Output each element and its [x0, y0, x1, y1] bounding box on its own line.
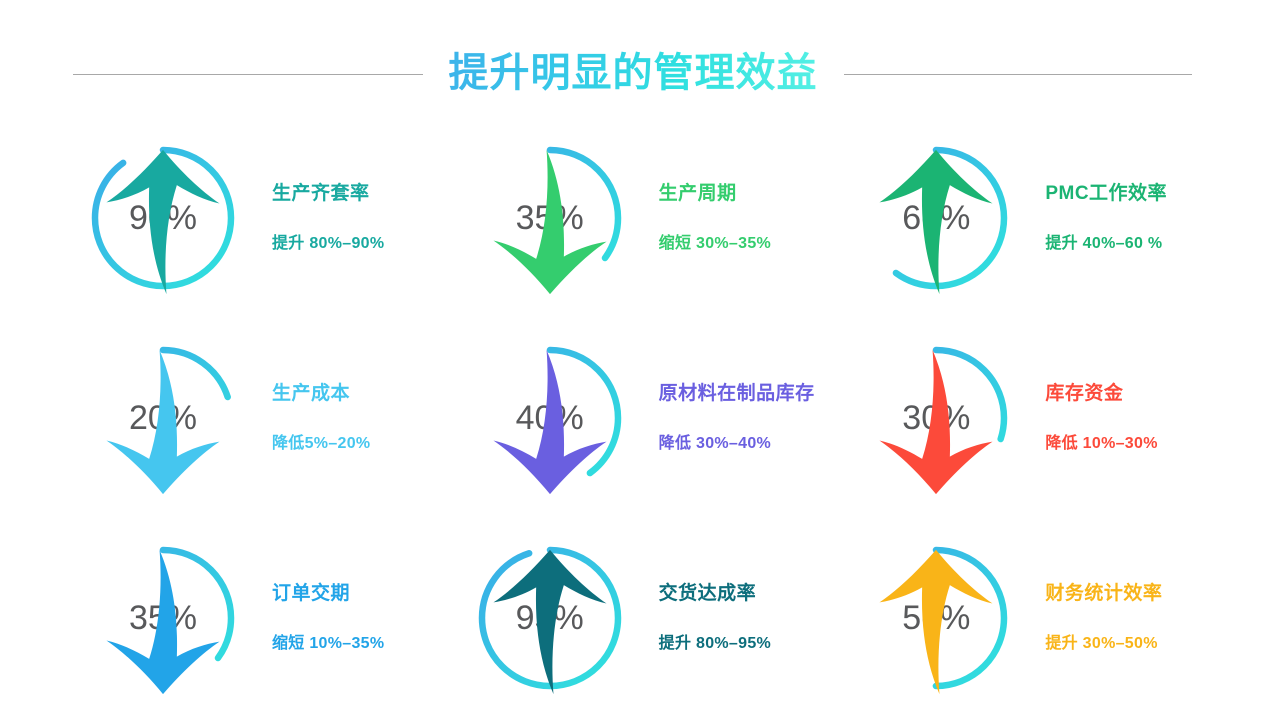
gauge-center: 35%: [475, 143, 625, 293]
gauge-center: 60%: [861, 143, 1011, 293]
arrow-up-icon: [861, 547, 1011, 697]
gauge-ring: 90%: [88, 143, 238, 293]
header-rule-left: [73, 74, 423, 75]
arrow-up-icon: [861, 147, 1011, 297]
gauge-ring: 20%: [88, 343, 238, 493]
metric-title: 原材料在制品库存: [659, 383, 815, 406]
gauge-ring: 30%: [861, 343, 1011, 493]
gauge-ring: 60%: [861, 143, 1011, 293]
metric-labels: 原材料在制品库存降低 30%–40%: [659, 383, 815, 453]
gauge-center: 95%: [475, 543, 625, 693]
metric-title: 订单交期: [272, 583, 384, 606]
gauge-ring: 35%: [88, 543, 238, 693]
metric-cell: 35%生产周期缩短 30%–35%: [447, 118, 834, 318]
metric-subtitle: 降低 10%–30%: [1045, 434, 1157, 453]
metric-cell: 60%PMC工作效率提升 40%–60 %: [833, 118, 1220, 318]
metric-cell: 35%订单交期缩短 10%–35%: [60, 518, 447, 718]
metric-title: 交货达成率: [659, 583, 771, 606]
metric-title: 库存资金: [1045, 383, 1157, 406]
metric-subtitle: 提升 40%–60 %: [1045, 234, 1167, 253]
slide-root: 提升明显的管理效益 90%生产齐套率提升 80%–90%35%生产周期缩短 30…: [0, 0, 1264, 710]
gauge-ring: 35%: [475, 143, 625, 293]
arrow-down-icon: [861, 347, 1011, 497]
metric-title: PMC工作效率: [1045, 183, 1167, 206]
metric-title: 财务统计效率: [1045, 583, 1162, 606]
metric-cell: 50%财务统计效率提升 30%–50%: [833, 518, 1220, 718]
metric-labels: 库存资金降低 10%–30%: [1045, 383, 1157, 453]
metric-subtitle: 降低5%–20%: [272, 434, 370, 453]
metric-title: 生产周期: [659, 183, 771, 206]
metric-labels: 生产周期缩短 30%–35%: [659, 183, 771, 253]
slide-header: 提升明显的管理效益: [0, 46, 1264, 102]
metric-subtitle: 提升 80%–95%: [659, 634, 771, 653]
metric-title: 生产成本: [272, 383, 370, 406]
metric-subtitle: 降低 30%–40%: [659, 434, 815, 453]
metric-cell: 20%生产成本降低5%–20%: [60, 318, 447, 518]
gauge-center: 40%: [475, 343, 625, 493]
arrow-down-icon: [88, 547, 238, 697]
metric-labels: 生产齐套率提升 80%–90%: [272, 183, 384, 253]
metric-subtitle: 提升 80%–90%: [272, 234, 384, 253]
metric-labels: 财务统计效率提升 30%–50%: [1045, 583, 1162, 653]
gauge-center: 35%: [88, 543, 238, 693]
metric-labels: 生产成本降低5%–20%: [272, 383, 370, 453]
arrow-down-icon: [475, 147, 625, 297]
arrow-down-icon: [88, 347, 238, 497]
header-rule-right: [844, 74, 1192, 75]
metric-cell: 40%原材料在制品库存降低 30%–40%: [447, 318, 834, 518]
metric-labels: 交货达成率提升 80%–95%: [659, 583, 771, 653]
metric-title: 生产齐套率: [272, 183, 384, 206]
metric-cell: 90%生产齐套率提升 80%–90%: [60, 118, 447, 318]
metric-subtitle: 缩短 10%–35%: [272, 634, 384, 653]
gauge-ring: 40%: [475, 343, 625, 493]
gauge-center: 20%: [88, 343, 238, 493]
page-title: 提升明显的管理效益: [449, 51, 818, 97]
arrow-down-icon: [475, 347, 625, 497]
gauge-center: 50%: [861, 543, 1011, 693]
metric-cell: 30%库存资金降低 10%–30%: [833, 318, 1220, 518]
metric-cell: 95%交货达成率提升 80%–95%: [447, 518, 834, 718]
metric-labels: 订单交期缩短 10%–35%: [272, 583, 384, 653]
gauge-center: 90%: [88, 143, 238, 293]
metrics-grid: 90%生产齐套率提升 80%–90%35%生产周期缩短 30%–35%60%PM…: [60, 118, 1220, 718]
gauge-center: 30%: [861, 343, 1011, 493]
metric-subtitle: 提升 30%–50%: [1045, 634, 1162, 653]
arrow-up-icon: [88, 147, 238, 297]
gauge-ring: 95%: [475, 543, 625, 693]
metric-labels: PMC工作效率提升 40%–60 %: [1045, 183, 1167, 253]
metric-subtitle: 缩短 30%–35%: [659, 234, 771, 253]
gauge-ring: 50%: [861, 543, 1011, 693]
arrow-up-icon: [475, 547, 625, 697]
